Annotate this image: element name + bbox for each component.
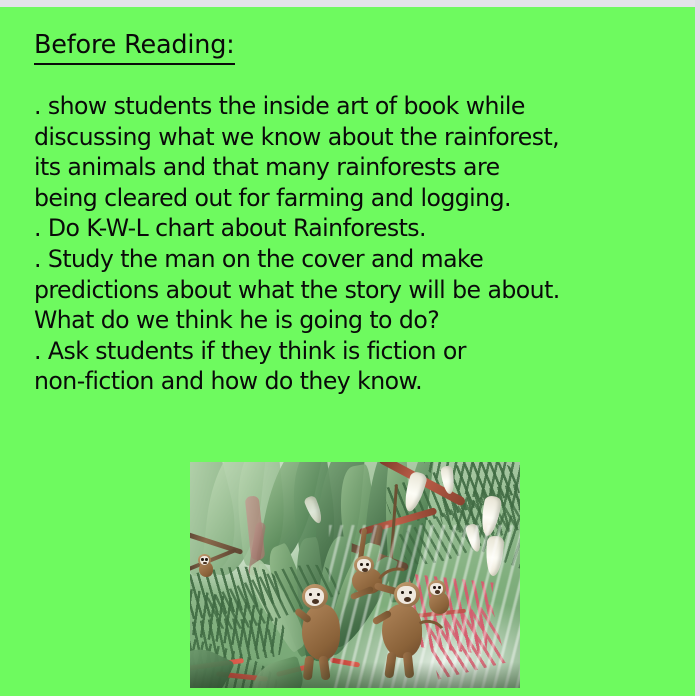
slide-content: Before Reading: . show students the insi… [34, 28, 674, 397]
squirrel-monkey [196, 554, 216, 578]
text-line: being cleared out for farming and loggin… [34, 183, 659, 214]
foreground-shadow [190, 662, 520, 688]
slide-right-edge-strip [695, 0, 700, 696]
monkey-eye [401, 591, 404, 594]
instructions-text-block: . show students the inside art of book w… [34, 91, 659, 397]
text-line: discussing what we know about the rainfo… [34, 122, 659, 153]
text-line: . Study the man on the cover and make [34, 244, 659, 275]
monkey-eye [438, 586, 441, 589]
monkey-eye [433, 586, 436, 589]
monkey-eye [360, 563, 363, 566]
illustration-artwork [190, 462, 520, 688]
monkey-eye [409, 591, 412, 594]
monkey-eye [366, 563, 369, 566]
monkey-eye [201, 558, 204, 561]
monkey-muzzle [362, 568, 368, 572]
text-line: non-fiction and how do they know. [34, 366, 659, 397]
monkey-eye [205, 558, 208, 561]
monkey-body [302, 604, 340, 660]
monkey-muzzle [312, 599, 319, 604]
text-line: predictions about what the story will be… [34, 275, 659, 306]
text-line: . Do K-W-L chart about Rainforests. [34, 213, 659, 244]
slide-canvas: Before Reading: . show students the insi… [0, 0, 700, 696]
monkey-muzzle [435, 590, 440, 594]
heading-wrapper: Before Reading: [34, 28, 674, 65]
squirrel-monkey [426, 580, 456, 614]
monkey-muzzle [404, 597, 411, 602]
monkey-eye [309, 593, 312, 596]
text-line: . show students the inside art of book w… [34, 91, 659, 122]
monkey-muzzle [203, 562, 207, 565]
text-line: . Ask students if they think is fiction … [34, 336, 659, 367]
text-line: What do we think he is going to do? [34, 305, 659, 336]
monkey-eye [317, 593, 320, 596]
rainforest-illustration [190, 462, 520, 688]
text-line: its animals and that many rainforests ar… [34, 152, 659, 183]
slide-top-edge-strip [0, 0, 700, 7]
page-title: Before Reading: [34, 28, 235, 65]
